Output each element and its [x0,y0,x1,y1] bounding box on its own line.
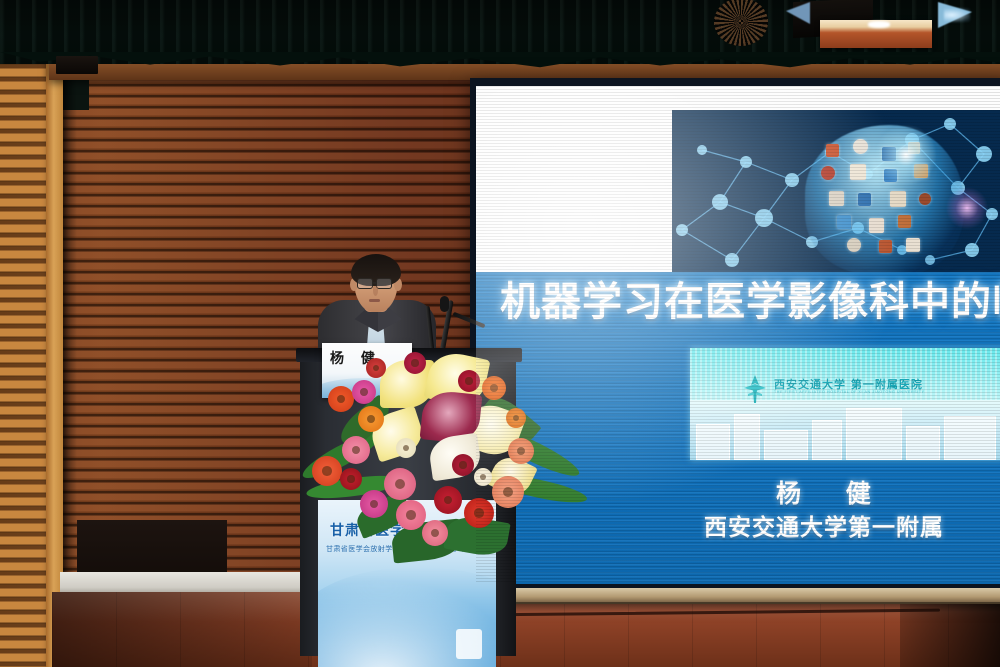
slide-title: 机器学习在医学影像科中的临 [500,282,1000,322]
hospital-logo-subtext: THE FIRST AFFILIATED HOSPITAL OF XI AN J… [774,390,925,394]
lens-flare-secondary-icon [944,185,990,231]
speaker-grille-icon [714,0,768,46]
hospital-emblem-icon [742,374,768,404]
slide-affiliation: 西安交通大学第一附属 [704,508,1000,542]
conference-stage-photo: 机器学习在医学影像科中的临 西安交通大学 第一附属医院 THE FIRST AF… [0,0,1000,667]
glasses-lens-right-icon [376,278,392,289]
glasses-lens-left-icon [357,278,373,289]
speaker-nose [373,286,378,296]
microphone-capsule-icon [440,296,449,312]
stage-light-beam-left [786,2,810,24]
ledge-shadow [468,602,1000,612]
flower-arrangement [296,350,592,600]
slide-presenter-name: 杨 健 [776,474,1000,510]
left-trim-post [46,0,63,667]
hospital-photo-card: 西安交通大学 第一附属医院 THE FIRST AFFILIATED HOSPI… [690,348,1000,460]
stage-light-glow [944,8,970,22]
speaker-mouth [369,299,380,302]
ai-brain-image [672,110,1000,272]
glasses-bridge-icon [372,282,377,284]
left-post-shadow [63,0,77,667]
floor-shadow-left [52,592,312,667]
ceiling-speaker-box [56,56,98,74]
ceiling-light-panel [820,20,932,48]
banner-building-icon [456,629,482,659]
lens-flare-icon [871,120,941,190]
left-slat-panel [0,0,52,667]
